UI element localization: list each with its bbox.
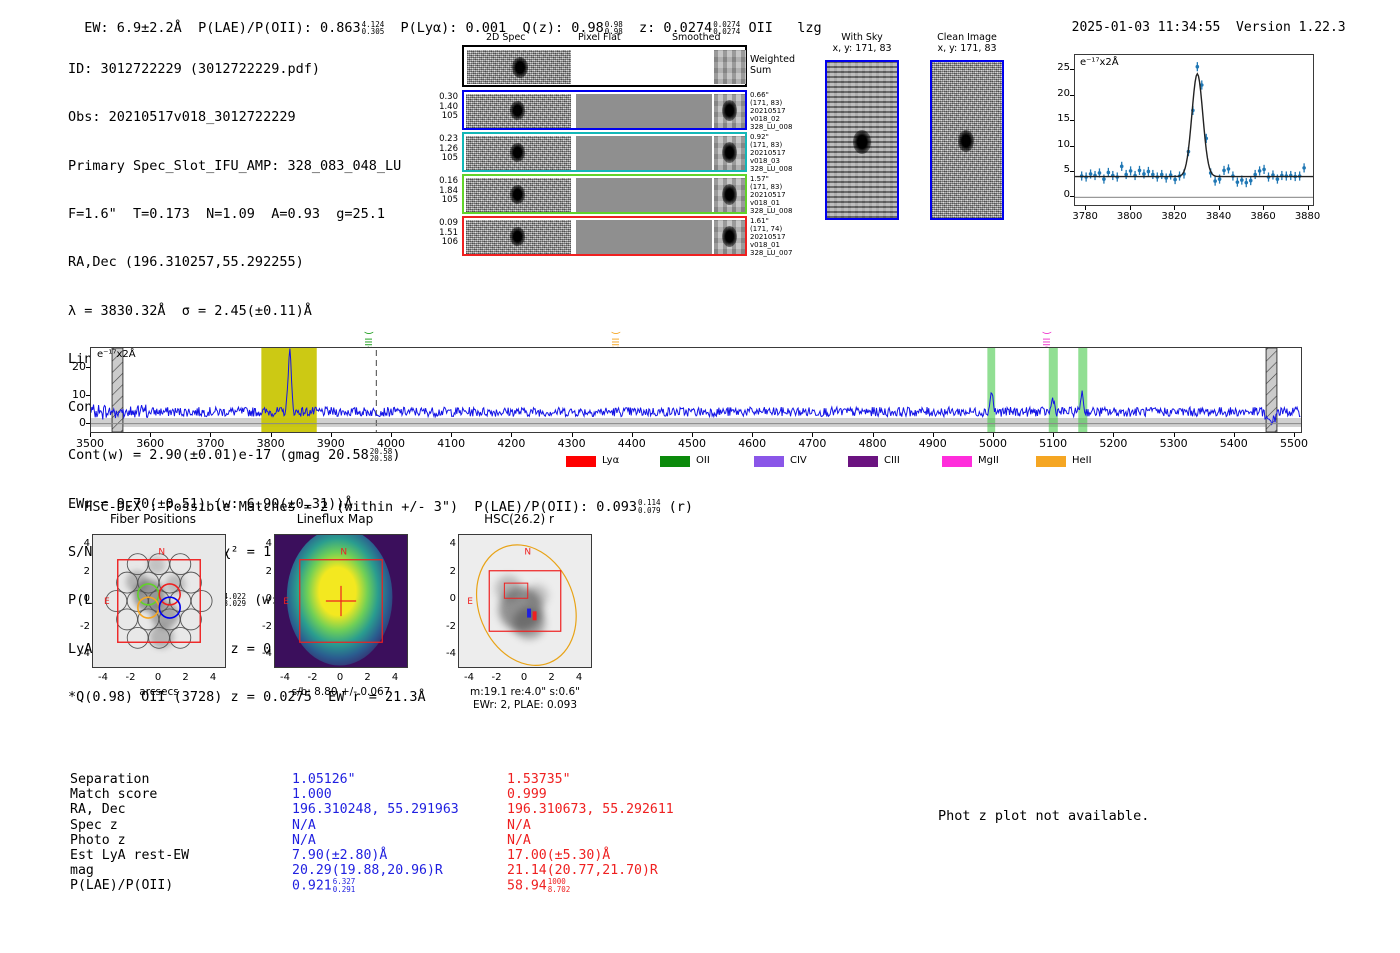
match-col2-plae-bounds: 10008.702 <box>548 878 571 893</box>
full-x-tick: 5400 <box>1210 437 1258 450</box>
hsc-y-tick: 4 <box>432 538 456 549</box>
legend-swatch-Lyα <box>566 456 596 467</box>
cutout-with-sky-blob <box>853 130 871 154</box>
lineflux-y-tick: -2 <box>248 621 272 632</box>
full-x-tick: 4600 <box>728 437 776 450</box>
spec2d-row-right-value: 328_LU_008 <box>750 123 810 131</box>
zoom-spectrum-panel: e⁻¹⁷x2Å 0510152025 378038003820384038603… <box>1036 46 1326 251</box>
full-x-tick: 3900 <box>307 437 355 450</box>
spec2d-row-right-labels: 1.61"(171, 74)20210517v018_01328_LU_007 <box>750 217 810 257</box>
lineflux-y-tick: 2 <box>248 566 272 577</box>
full-x-tick: 4200 <box>487 437 535 450</box>
cutout-clean-image: Clean Image x, y: 171, 83 <box>922 32 1012 54</box>
full-y-tickmark <box>86 395 90 396</box>
svg-text:N: N <box>340 547 347 557</box>
match-row-label: mag <box>70 863 300 878</box>
full-x-tickmark <box>391 433 392 437</box>
hscdex-headline-filter: (r) <box>669 499 693 515</box>
fiber-y-tick: -2 <box>66 621 90 632</box>
svg-text:E: E <box>283 597 289 607</box>
spec2d-row-left-value: 106 <box>414 238 458 248</box>
fiber-x-tick: 0 <box>144 672 172 683</box>
full-x-tickmark <box>572 433 573 437</box>
info-obs: Obs: 20210517v018_3012722229 <box>68 109 426 125</box>
header-timestamp-version: 2025-01-03 11:34:55 Version 1.22.3 <box>1056 5 1346 35</box>
match-col1-value: N/A <box>292 818 316 833</box>
legend-label-CIV: CIV <box>790 455 807 466</box>
legend-label-CIII: CIII <box>884 455 900 466</box>
zoom-y-tick: 0 <box>1046 189 1070 200</box>
full-x-tick: 5200 <box>1089 437 1137 450</box>
weighted-sum-label: WeightedSum <box>750 54 795 76</box>
full-x-tickmark <box>1053 433 1054 437</box>
spec2d-montage: 2D Spec Pixel Flat Smoothed WeightedSum … <box>462 32 802 257</box>
full-x-tickmark <box>1234 433 1235 437</box>
match-col2-value: 196.310673, 55.292611 <box>507 802 674 817</box>
spec2d-col-title-2dspec: 2D Spec <box>486 32 526 43</box>
zoom-y-tickmark <box>1070 95 1074 96</box>
match-col1-value: 196.310248, 55.291963 <box>292 802 459 817</box>
spec2d-row-right-value: (171, 83) <box>750 141 810 149</box>
spec2d-row-right-labels: 0.92"(171, 83)20210517v018_03328_LU_008 <box>750 133 810 173</box>
bound-lo: 8.702 <box>548 886 571 894</box>
match-row-label: RA, Dec <box>70 802 300 817</box>
full-y-tick: 0 <box>62 416 86 429</box>
spec2d-row-pixelflat-image <box>576 94 712 128</box>
fiber-x-tick: 4 <box>199 672 227 683</box>
weighted-sum-smoothed-image <box>714 50 746 84</box>
fiber-positions-svg: NE <box>93 535 225 667</box>
full-x-tick: 3700 <box>186 437 234 450</box>
legend-swatch-CIII <box>848 456 878 467</box>
panel-hsc-r: HSC(26.2) r NE -4-4-2-2002244 m:19.1 re:… <box>424 512 624 727</box>
lineflux-y-tick: 4 <box>248 538 272 549</box>
full-x-tick: 4500 <box>668 437 716 450</box>
hscdex-plae-bounds: 0.1140.079 <box>638 499 661 514</box>
full-x-tickmark <box>331 433 332 437</box>
lineflux-x-tick: 2 <box>354 672 382 683</box>
hscdex-headline: HSC-DEX : Possible Matches = 2 (within +… <box>68 483 693 515</box>
hsc-r-caption2: EWr: 2, PLAE: 0.093 <box>430 699 620 711</box>
fiber-y-tick: 2 <box>66 566 90 577</box>
legend-swatch-HeII <box>1036 456 1066 467</box>
match-row-label: Photo z <box>70 833 300 848</box>
zoom-y-tick: 25 <box>1046 62 1070 73</box>
spec2d-row <box>462 174 747 214</box>
match-row-label: Est LyA rest-EW <box>70 848 300 863</box>
match-col2-value: 1.53735" <box>507 772 571 787</box>
zoom-x-tickmark <box>1085 206 1086 210</box>
lineflux-map-svg: NE <box>275 535 407 667</box>
full-x-tickmark <box>210 433 211 437</box>
full-x-tickmark <box>451 433 452 437</box>
spec2d-row-right-value: v018_01 <box>750 199 810 207</box>
full-x-tick: 3800 <box>247 437 295 450</box>
spec2d-row <box>462 132 747 172</box>
zoom-y-tick: 10 <box>1046 139 1070 150</box>
timestamp: 2025-01-03 11:34:55 <box>1072 20 1221 35</box>
spec2d-row-right-value: (171, 74) <box>750 225 810 233</box>
zoom-y-tick: 15 <box>1046 113 1070 124</box>
lineflux-x-tick: 4 <box>381 672 409 683</box>
full-y-tick: 20 <box>62 360 86 373</box>
zoom-spectrum-svg <box>1075 55 1313 205</box>
full-y-tick: 10 <box>62 388 86 401</box>
zoom-x-tickmark <box>1174 206 1175 210</box>
lineflux-x-tick: 0 <box>326 672 354 683</box>
spec2d-row-left-labels: 0.231.26105 <box>414 135 458 164</box>
spec2d-row-left-value: 105 <box>414 154 458 164</box>
fiber-positions-axes: NE <box>92 534 226 668</box>
legend-label-Lyα: Lyα <box>602 455 619 466</box>
full-x-tick: 4100 <box>427 437 475 450</box>
spec2d-row-right-value: 0.66" <box>750 91 810 99</box>
panel-fiber-positions: Fiber Positions NE -4-4-2-2002244 arcsec… <box>58 512 248 712</box>
full-x-tickmark <box>1294 433 1295 437</box>
hsc-r-axes: NE <box>458 534 592 668</box>
hsc-y-tick: 2 <box>432 566 456 577</box>
cutout-clean-title: Clean Image <box>922 32 1012 43</box>
spec2d-row <box>462 216 747 256</box>
match-col1-plae: 0.9216.3270.291 <box>292 878 355 894</box>
version: Version 1.22.3 <box>1236 20 1346 35</box>
spec2d-row-right-labels: 1.57"(171, 83)20210517v018_01328_LU_008 <box>750 175 810 215</box>
spec2d-row-right-value: v018_03 <box>750 157 810 165</box>
full-x-tickmark <box>752 433 753 437</box>
spec2d-row-left-labels: 0.301.40105 <box>414 93 458 122</box>
spec2d-col-title-pixelflat: Pixel Flat <box>578 32 621 43</box>
weighted-sum-2dspec-blob <box>512 57 528 78</box>
bound-lo: 0.291 <box>333 886 356 894</box>
spec2d-row-right-value: 20210517 <box>750 149 810 157</box>
hsc-x-tick: -4 <box>455 672 483 683</box>
spec2d-row-pixelflat-image <box>576 178 712 212</box>
spec2d-row-smoothed-blob <box>722 142 737 163</box>
panel-fiber-positions-title: Fiber Positions <box>58 512 248 526</box>
zoom-x-tickmark <box>1130 206 1131 210</box>
spec2d-row-right-value: 20210517 <box>750 107 810 115</box>
spec2d-row-right-value: 0.92" <box>750 133 810 141</box>
full-x-tickmark <box>150 433 151 437</box>
match-col2-plae: 58.9410008.702 <box>507 878 570 894</box>
match-col2-value: 21.14(20.77,21.70)R <box>507 863 658 878</box>
full-x-tick: 4400 <box>608 437 656 450</box>
match-col2-value: N/A <box>507 833 531 848</box>
match-row-label: Match score <box>70 787 300 802</box>
spec2d-row-pixelflat-image <box>576 220 712 254</box>
fiber-x-tick: 2 <box>172 672 200 683</box>
spec2d-row-right-value: 328_LU_007 <box>750 249 810 257</box>
zoom-y-tick: 20 <box>1046 88 1070 99</box>
full-spectrum-flux-unit: e⁻¹⁷x2Å <box>97 349 136 360</box>
spec2d-row-right-value: 20210517 <box>750 233 810 241</box>
match-col1-plae-bounds: 6.3270.291 <box>333 878 356 893</box>
spec2d-row <box>462 90 747 130</box>
match-row-label: P(LAE)/P(OII) <box>70 878 300 893</box>
hsc-y-tick: 0 <box>432 593 456 604</box>
spec2d-weighted-sum-row <box>462 45 747 87</box>
photz-not-available-note: Phot z plot not available. <box>938 808 1149 824</box>
lineflux-map-caption: s/b: 8.80 +/- 0.067 <box>254 686 428 698</box>
info-spec-slot: Primary Spec_Slot_IFU_AMP: 328_083_048_L… <box>68 158 426 174</box>
cutout-with-sky-title: With Sky <box>818 32 906 43</box>
full-x-tickmark <box>692 433 693 437</box>
zoom-spectrum-axes: e⁻¹⁷x2Å <box>1074 54 1314 206</box>
match-col1-value: 7.90(±2.80)Å <box>292 848 387 863</box>
full-x-tick: 4900 <box>909 437 957 450</box>
match-col1-value: 1.000 <box>292 787 332 802</box>
spec2d-row-right-value: 1.61" <box>750 217 810 225</box>
zoom-y-tickmark <box>1070 171 1074 172</box>
hsc-x-tick: -2 <box>483 672 511 683</box>
full-x-tick: 4300 <box>548 437 596 450</box>
match-col1-value: 1.05126" <box>292 772 356 787</box>
fiber-x-tick: -2 <box>117 672 145 683</box>
lineflux-map-axes: NE <box>274 534 408 668</box>
spec2d-row-right-value: 20210517 <box>750 191 810 199</box>
zoom-x-tick: 3840 <box>1200 211 1238 222</box>
hsc-x-tick: 0 <box>510 672 538 683</box>
legend-swatch-OII <box>660 456 690 467</box>
spec2d-row-smoothed-blob <box>722 226 737 247</box>
spec2d-row-right-value: (171, 83) <box>750 183 810 191</box>
full-x-tickmark <box>993 433 994 437</box>
legend-swatch-MgII <box>942 456 972 467</box>
spec2d-row-right-value: 328_LU_008 <box>750 165 810 173</box>
full-x-tick: 4800 <box>849 437 897 450</box>
svg-text:E: E <box>467 597 473 607</box>
spec2d-row-raw-blob <box>510 143 525 162</box>
zoom-y-tickmark <box>1070 196 1074 197</box>
hsc-x-tick: 4 <box>565 672 593 683</box>
match-col1-plae-value: 0.921 <box>292 879 332 894</box>
info-id: ID: 3012722229 (3012722229.pdf) <box>68 61 426 77</box>
full-x-tickmark <box>90 433 91 437</box>
spec2d-row-right-labels: 0.66"(171, 83)20210517v018_02328_LU_008 <box>750 91 810 131</box>
match-col2-plae-value: 58.94 <box>507 879 547 894</box>
full-x-tickmark <box>1113 433 1114 437</box>
fiber-y-tick: 0 <box>66 593 90 604</box>
spec2d-row-raw-blob <box>510 101 525 120</box>
match-col2-value: N/A <box>507 818 531 833</box>
panel-lineflux-map-title: Lineflux Map <box>240 512 430 526</box>
zoom-y-tickmark <box>1070 69 1074 70</box>
full-x-tick: 5300 <box>1150 437 1198 450</box>
cutout-clean-blob <box>958 130 974 152</box>
match-col1-value: N/A <box>292 833 316 848</box>
zoom-x-tick: 3880 <box>1289 211 1327 222</box>
spec2d-row-raw-blob <box>510 185 525 204</box>
panel-hsc-r-title: HSC(26.2) r <box>424 512 614 526</box>
spec2d-row-pixelflat-image <box>576 136 712 170</box>
zoom-x-tick: 3780 <box>1066 211 1104 222</box>
full-x-tickmark <box>1174 433 1175 437</box>
zoom-x-tickmark <box>1263 206 1264 210</box>
full-spectrum-axes: e⁻¹⁷x2Å <box>90 347 1302 433</box>
full-x-tick: 5000 <box>969 437 1017 450</box>
full-x-tickmark <box>873 433 874 437</box>
fiber-y-tick: -4 <box>66 648 90 659</box>
spec2d-col-title-smoothed: Smoothed <box>672 32 721 43</box>
zoom-x-tick: 3860 <box>1244 211 1282 222</box>
full-x-tickmark <box>271 433 272 437</box>
svg-text:E: E <box>104 597 110 607</box>
match-col2-value: 17.00(±5.30)Å <box>507 848 610 863</box>
zoom-y-tick: 5 <box>1046 164 1070 175</box>
fiber-positions-xlabel: arcsecs <box>92 686 226 698</box>
legend-swatch-CIV <box>754 456 784 467</box>
zoom-y-tickmark <box>1070 146 1074 147</box>
spec2d-row-smoothed-blob <box>722 100 737 121</box>
spec2d-row-right-value: v018_01 <box>750 241 810 249</box>
cutout-clean-subtitle: x, y: 171, 83 <box>922 43 1012 54</box>
full-x-tickmark <box>632 433 633 437</box>
fiber-y-tick: 4 <box>66 538 90 549</box>
full-spectrum-panel: CIV (NV (NeIII (SiII (HeII (CIII (SiIV (… <box>68 280 1308 470</box>
cutout-with-sky: With Sky x, y: 171, 83 <box>818 32 906 54</box>
match-row-label: Spec z <box>70 818 300 833</box>
spec2d-row-right-value: v018_02 <box>750 115 810 123</box>
spec2d-row-right-value: 328_LU_008 <box>750 207 810 215</box>
spec2d-row-left-value: 105 <box>414 112 458 122</box>
cutout-with-sky-subtitle: x, y: 171, 83 <box>818 43 906 54</box>
hsc-x-tick: 2 <box>538 672 566 683</box>
full-y-tickmark <box>86 367 90 368</box>
full-x-tick: 4700 <box>788 437 836 450</box>
spec2d-row-left-value: 105 <box>414 196 458 206</box>
zoom-x-tick: 3800 <box>1111 211 1149 222</box>
full-x-tick: 5100 <box>1029 437 1077 450</box>
svg-text:N: N <box>158 547 165 557</box>
full-x-tickmark <box>511 433 512 437</box>
zoom-y-tickmark <box>1070 120 1074 121</box>
fiber-x-tick: -4 <box>89 672 117 683</box>
full-x-tick: 3500 <box>66 437 114 450</box>
zoom-x-tickmark <box>1219 206 1220 210</box>
match-col2-value: 0.999 <box>507 787 547 802</box>
spec2d-row-right-value: 1.57" <box>750 175 810 183</box>
full-x-tickmark <box>933 433 934 437</box>
full-x-tickmark <box>812 433 813 437</box>
hsc-r-svg: NE <box>459 535 591 667</box>
zoom-x-tick: 3820 <box>1155 211 1193 222</box>
spec2d-row-raw-blob <box>510 227 525 246</box>
svg-text:N: N <box>524 547 531 557</box>
zoom-x-tickmark <box>1308 206 1309 210</box>
full-x-tick: 4000 <box>367 437 415 450</box>
spec2d-row-left-labels: 0.091.51106 <box>414 219 458 248</box>
legend-label-OII: OII <box>696 455 710 466</box>
spec2d-row-right-value: (171, 83) <box>750 99 810 107</box>
full-spectrum-svg <box>91 348 1301 432</box>
full-y-tickmark <box>86 423 90 424</box>
hsc-y-tick: -4 <box>432 648 456 659</box>
spec2d-row-smoothed-blob <box>722 184 737 205</box>
full-x-tick: 3600 <box>126 437 174 450</box>
panel-lineflux-map: Lineflux Map NE -4-4-2-2002244 s/b: 8.80… <box>240 512 430 722</box>
match-col1-value: 20.29(19.88,20.96)R <box>292 863 443 878</box>
info-params: F=1.6" T=0.173 N=1.09 A=0.93 g=25.1 <box>68 206 426 222</box>
legend-label-MgII: MgII <box>978 455 999 466</box>
lineflux-y-tick: -4 <box>248 648 272 659</box>
lineflux-y-tick: 0 <box>248 593 272 604</box>
legend-label-HeII: HeII <box>1072 455 1092 466</box>
lineflux-x-tick: -4 <box>271 672 299 683</box>
hsc-r-caption: m:19.1 re:4.0" s:0.6" <box>430 686 620 698</box>
spec2d-row-left-labels: 0.161.84105 <box>414 177 458 206</box>
weighted-sum-pixelflat-image <box>576 50 712 84</box>
match-row-label: Separation <box>70 772 300 787</box>
info-radec: RA,Dec (196.310257,55.292255) <box>68 254 426 270</box>
hsc-y-tick: -2 <box>432 621 456 632</box>
full-x-tick: 5500 <box>1270 437 1318 450</box>
lineflux-x-tick: -2 <box>299 672 327 683</box>
